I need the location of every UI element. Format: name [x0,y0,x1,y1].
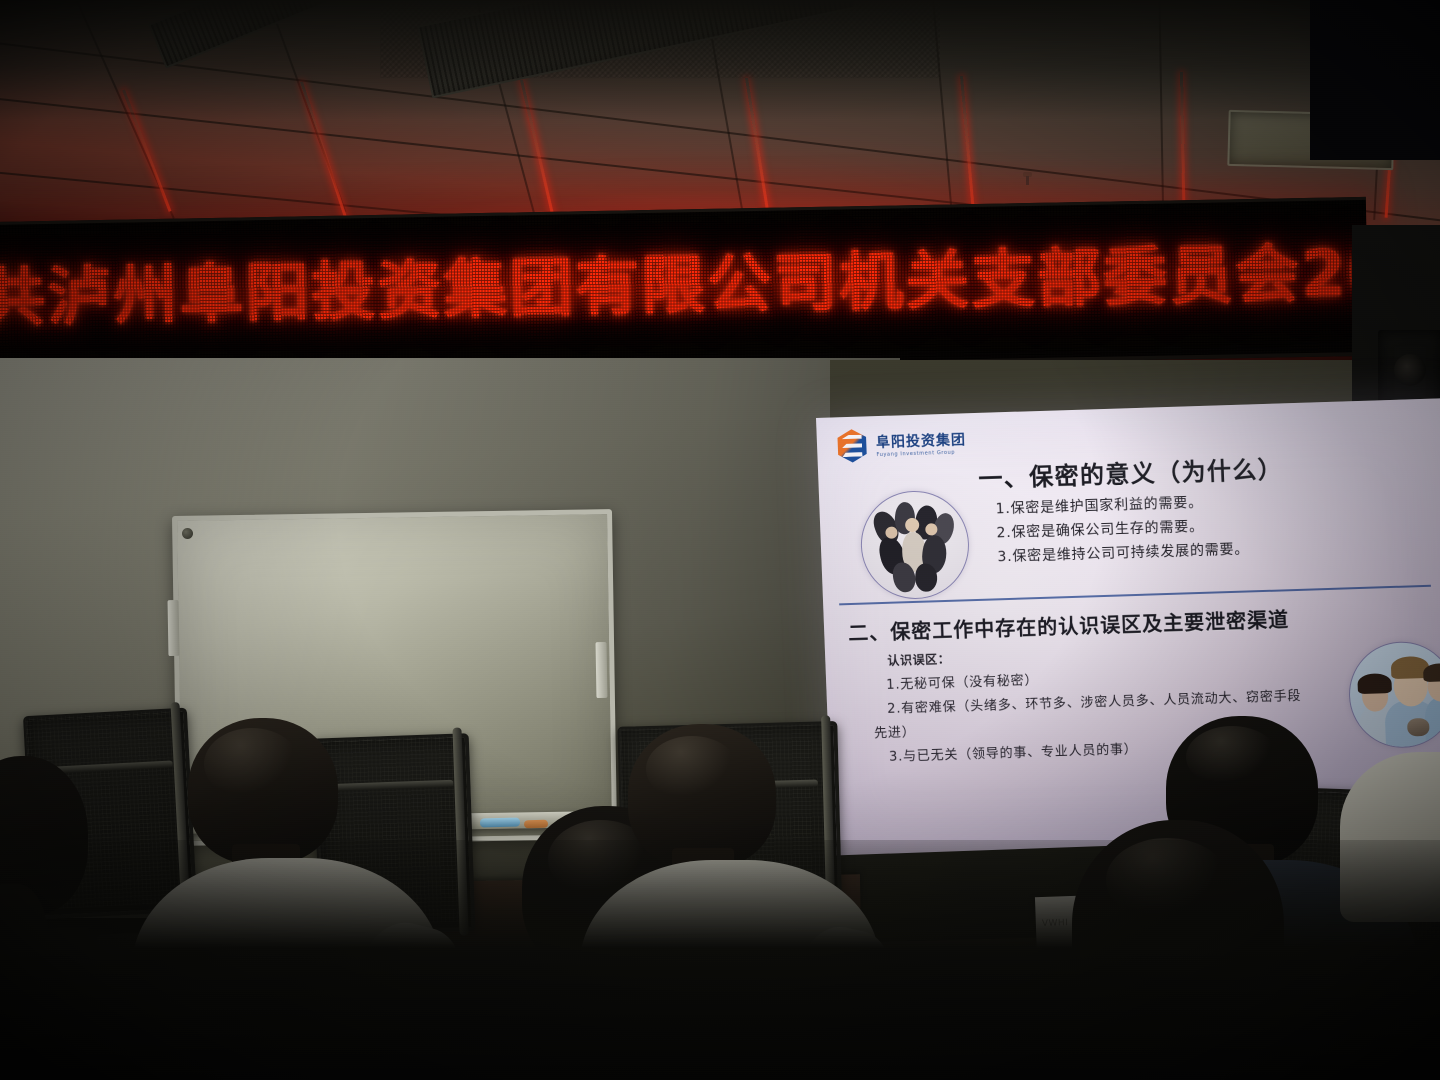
whiteboard-hinge [168,600,180,656]
ceiling-shadow [0,0,1440,120]
whiteboard-hinge [596,642,608,698]
speaker-cone [1394,354,1426,386]
led-banner: 共泸州阜阳投资集团有限公司机关支部委员会2019年6月固定党日 [0,197,1369,374]
whiteboard-marker [480,818,520,828]
led-right-shadow [1310,0,1440,160]
room-foreground-shadow [0,840,1440,1080]
whiteboard-eraser [524,820,548,829]
led-banner-frame: 共泸州阜阳投资集团有限公司机关支部委员会2019年6月固定党日 [0,197,1369,381]
meeting-room-photo: 共泸州阜阳投资集团有限公司机关支部委员会2019年6月固定党日 阜阳投资集团 F… [0,0,1440,1080]
whiteboard-clip [182,528,193,539]
ceiling-sprinkler [1023,172,1032,185]
